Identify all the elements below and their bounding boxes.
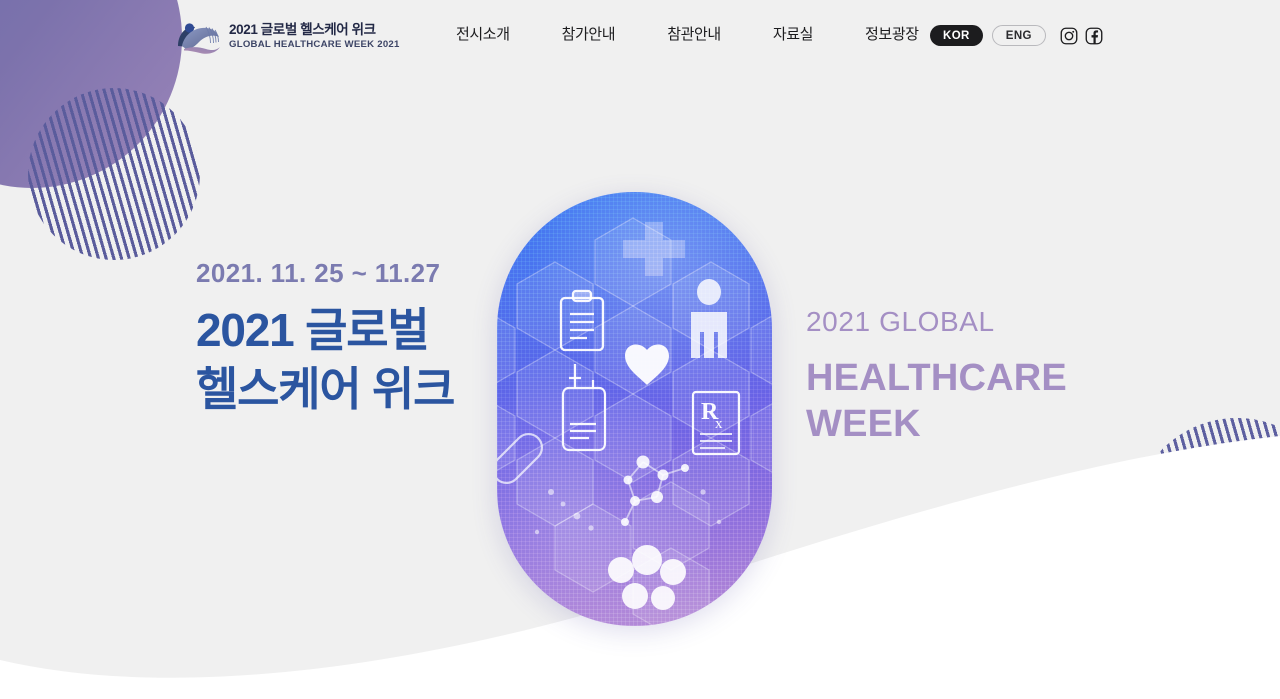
hero-date: 2021. 11. 25 ~ 11.27 (196, 258, 454, 289)
hero-title: 2021 글로벌 헬스케어 위크 (196, 301, 454, 419)
instagram-icon[interactable] (1060, 27, 1078, 45)
hero-text-korean: 2021. 11. 25 ~ 11.27 2021 글로벌 헬스케어 위크 (196, 258, 454, 419)
hero-title-line1: 2021 글로벌 (196, 304, 428, 356)
lang-button-kor[interactable]: KOR (930, 25, 983, 46)
hero-english-small: 2021 GLOBAL (806, 305, 1067, 339)
hero-title-line2: 헬스케어 위크 (196, 360, 454, 419)
logo-title-kr: 2021 글로벌 헬스케어 위크 (229, 22, 400, 38)
site-header: 2021 글로벌 헬스케어 위크 GLOBAL HEALTHCARE WEEK … (0, 0, 1280, 70)
capsule-shape: R x (497, 192, 772, 626)
hero-page: 2021 글로벌 헬스케어 위크 GLOBAL HEALTHCARE WEEK … (0, 0, 1280, 699)
hero-english-line1: HEALTHCARE (806, 357, 1067, 399)
logo-title-en: GLOBAL HEALTHCARE WEEK 2021 (229, 39, 400, 50)
lang-button-eng[interactable]: ENG (992, 25, 1046, 46)
hero-english-line2: WEEK (806, 403, 921, 445)
facebook-icon[interactable] (1085, 27, 1103, 45)
site-logo[interactable]: 2021 글로벌 헬스케어 위크 GLOBAL HEALTHCARE WEEK … (172, 16, 400, 56)
nav-item-visitor[interactable]: 참관안내 (641, 24, 747, 46)
hero-text-english: 2021 GLOBAL HEALTHCARE WEEK (806, 305, 1067, 447)
main-navigation: 전시소개 참가안내 참관안내 자료실 정보광장 (430, 24, 945, 46)
nav-item-resources[interactable]: 자료실 (747, 24, 839, 46)
logo-text-block: 2021 글로벌 헬스케어 위크 GLOBAL HEALTHCARE WEEK … (229, 22, 400, 51)
gmw-emblem-icon (172, 16, 222, 56)
hero-english-large: HEALTHCARE WEEK (806, 355, 1067, 448)
social-links (1060, 27, 1103, 45)
striped-circle-top-left (28, 88, 200, 260)
nav-item-participation[interactable]: 참가안내 (536, 24, 642, 46)
nav-item-exhibition[interactable]: 전시소개 (430, 24, 536, 46)
healthcare-hexagon-capsule-image: R x (497, 192, 772, 626)
utility-bar: KOR ENG (930, 25, 1103, 46)
capsule-glow (497, 192, 772, 626)
nav-item-info[interactable]: 정보광장 (839, 24, 945, 46)
